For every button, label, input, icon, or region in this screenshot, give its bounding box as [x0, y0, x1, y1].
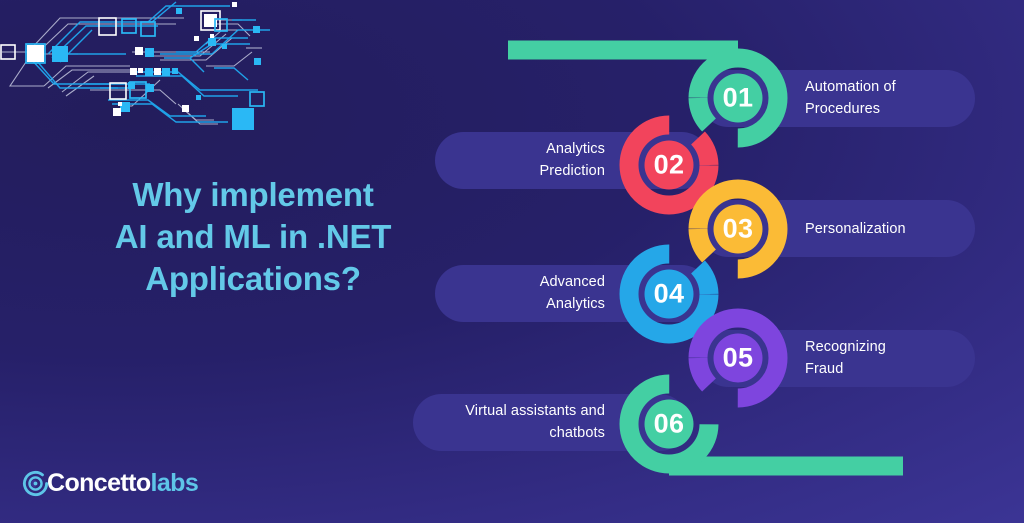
step-label-pills [413, 70, 975, 451]
node-step-02 [645, 141, 694, 190]
node-step-01 [714, 74, 763, 123]
node-step-04 [645, 270, 694, 319]
node-step-05 [714, 334, 763, 383]
node-step-03 [714, 205, 763, 254]
joint-05-06 [698, 358, 709, 385]
process-flow-diagram [0, 0, 1024, 523]
joint-01-02 [698, 98, 709, 125]
node-step-06 [645, 400, 694, 449]
joint-03-04 [698, 229, 709, 256]
joint-04-05 [698, 267, 709, 294]
joint-02-03 [698, 138, 709, 165]
infographic-canvas: Why implement AI and ML in .NET Applicat… [0, 0, 1024, 523]
